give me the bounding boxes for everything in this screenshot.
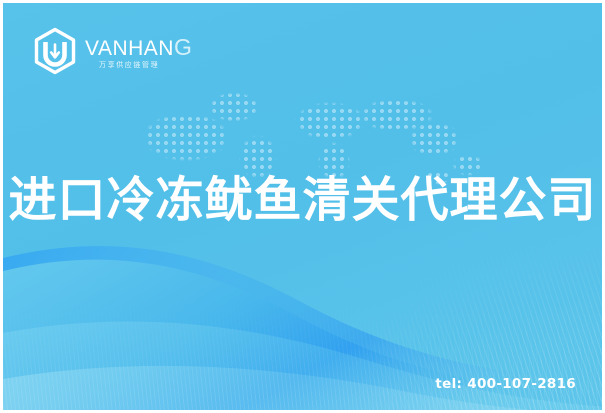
brand-wordmark: VANHANG 万享供应链管理 [85, 34, 192, 69]
brand-wordmark-en-lastletter: G [174, 34, 192, 60]
diagonal-hatch-texture-bottom [3, 290, 605, 410]
brand-wordmark-en-main: VANHAN [85, 37, 174, 60]
brand-subtitle-cn: 万享供应链管理 [99, 62, 192, 69]
brand-logo[interactable]: VANHANG 万享供应链管理 [33, 27, 192, 75]
brand-wordmark-en: VANHANG [85, 36, 192, 59]
vanhang-hexagon-u-mark [33, 27, 77, 75]
promo-banner: VANHANG 万享供应链管理 进口冷冻鱿鱼清关代理公司 tel: 400-10… [0, 0, 605, 413]
page-title: 进口冷冻鱿鱼清关代理公司 [3, 173, 602, 228]
contact-phone[interactable]: tel: 400-107-2816 [435, 376, 576, 392]
